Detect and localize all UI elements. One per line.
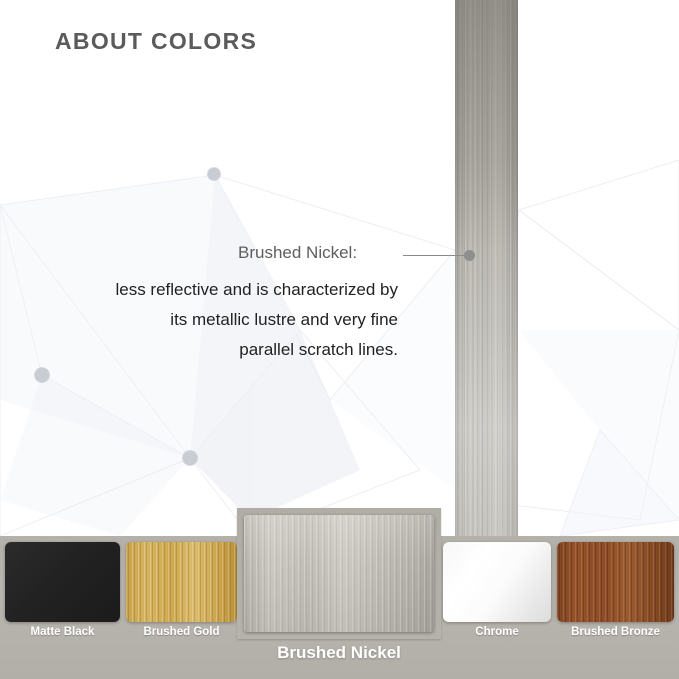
callout-body: less reflective and is characterized by … [28, 275, 398, 365]
about-colors-infographic: ABOUT COLORS Brushed Nickel: less reflec… [0, 0, 679, 679]
callout-body-line-3: parallel scratch lines. [28, 335, 398, 365]
decorative-dot [183, 451, 197, 465]
swatch-brushed-gold[interactable] [126, 542, 237, 622]
decorative-dot [35, 368, 49, 382]
callout-body-line-2: its metallic lustre and very fine [28, 305, 398, 335]
swatch-brushed-bronze[interactable] [557, 542, 674, 622]
swatch-matte-black[interactable] [5, 542, 120, 622]
swatch-texture [126, 542, 237, 622]
callout-heading: Brushed Nickel: [238, 243, 357, 263]
swatch-texture [5, 542, 120, 622]
swatch-texture [443, 542, 551, 622]
swatch-texture [557, 542, 674, 622]
swatch-brushed-nickel-featured[interactable] [244, 515, 434, 632]
decorative-dot [208, 168, 220, 180]
swatch-label-brushed-bronze: Brushed Bronze [557, 626, 674, 638]
swatch-label-chrome: Chrome [443, 626, 551, 638]
featured-swatch-label: Brushed Nickel [237, 643, 441, 663]
brushed-nickel-bar-shadow [455, 0, 518, 250]
swatch-label-brushed-gold: Brushed Gold [126, 626, 237, 638]
page-title: ABOUT COLORS [55, 28, 257, 55]
callout-leader-line [403, 255, 467, 256]
brushed-nickel-bar [455, 0, 518, 536]
callout-body-line-1: less reflective and is characterized by [28, 275, 398, 305]
swatch-sheen [244, 515, 434, 632]
swatch-label-matte-black: Matte Black [5, 626, 120, 638]
callout-leader-dot [464, 250, 475, 261]
swatch-chrome[interactable] [443, 542, 551, 622]
